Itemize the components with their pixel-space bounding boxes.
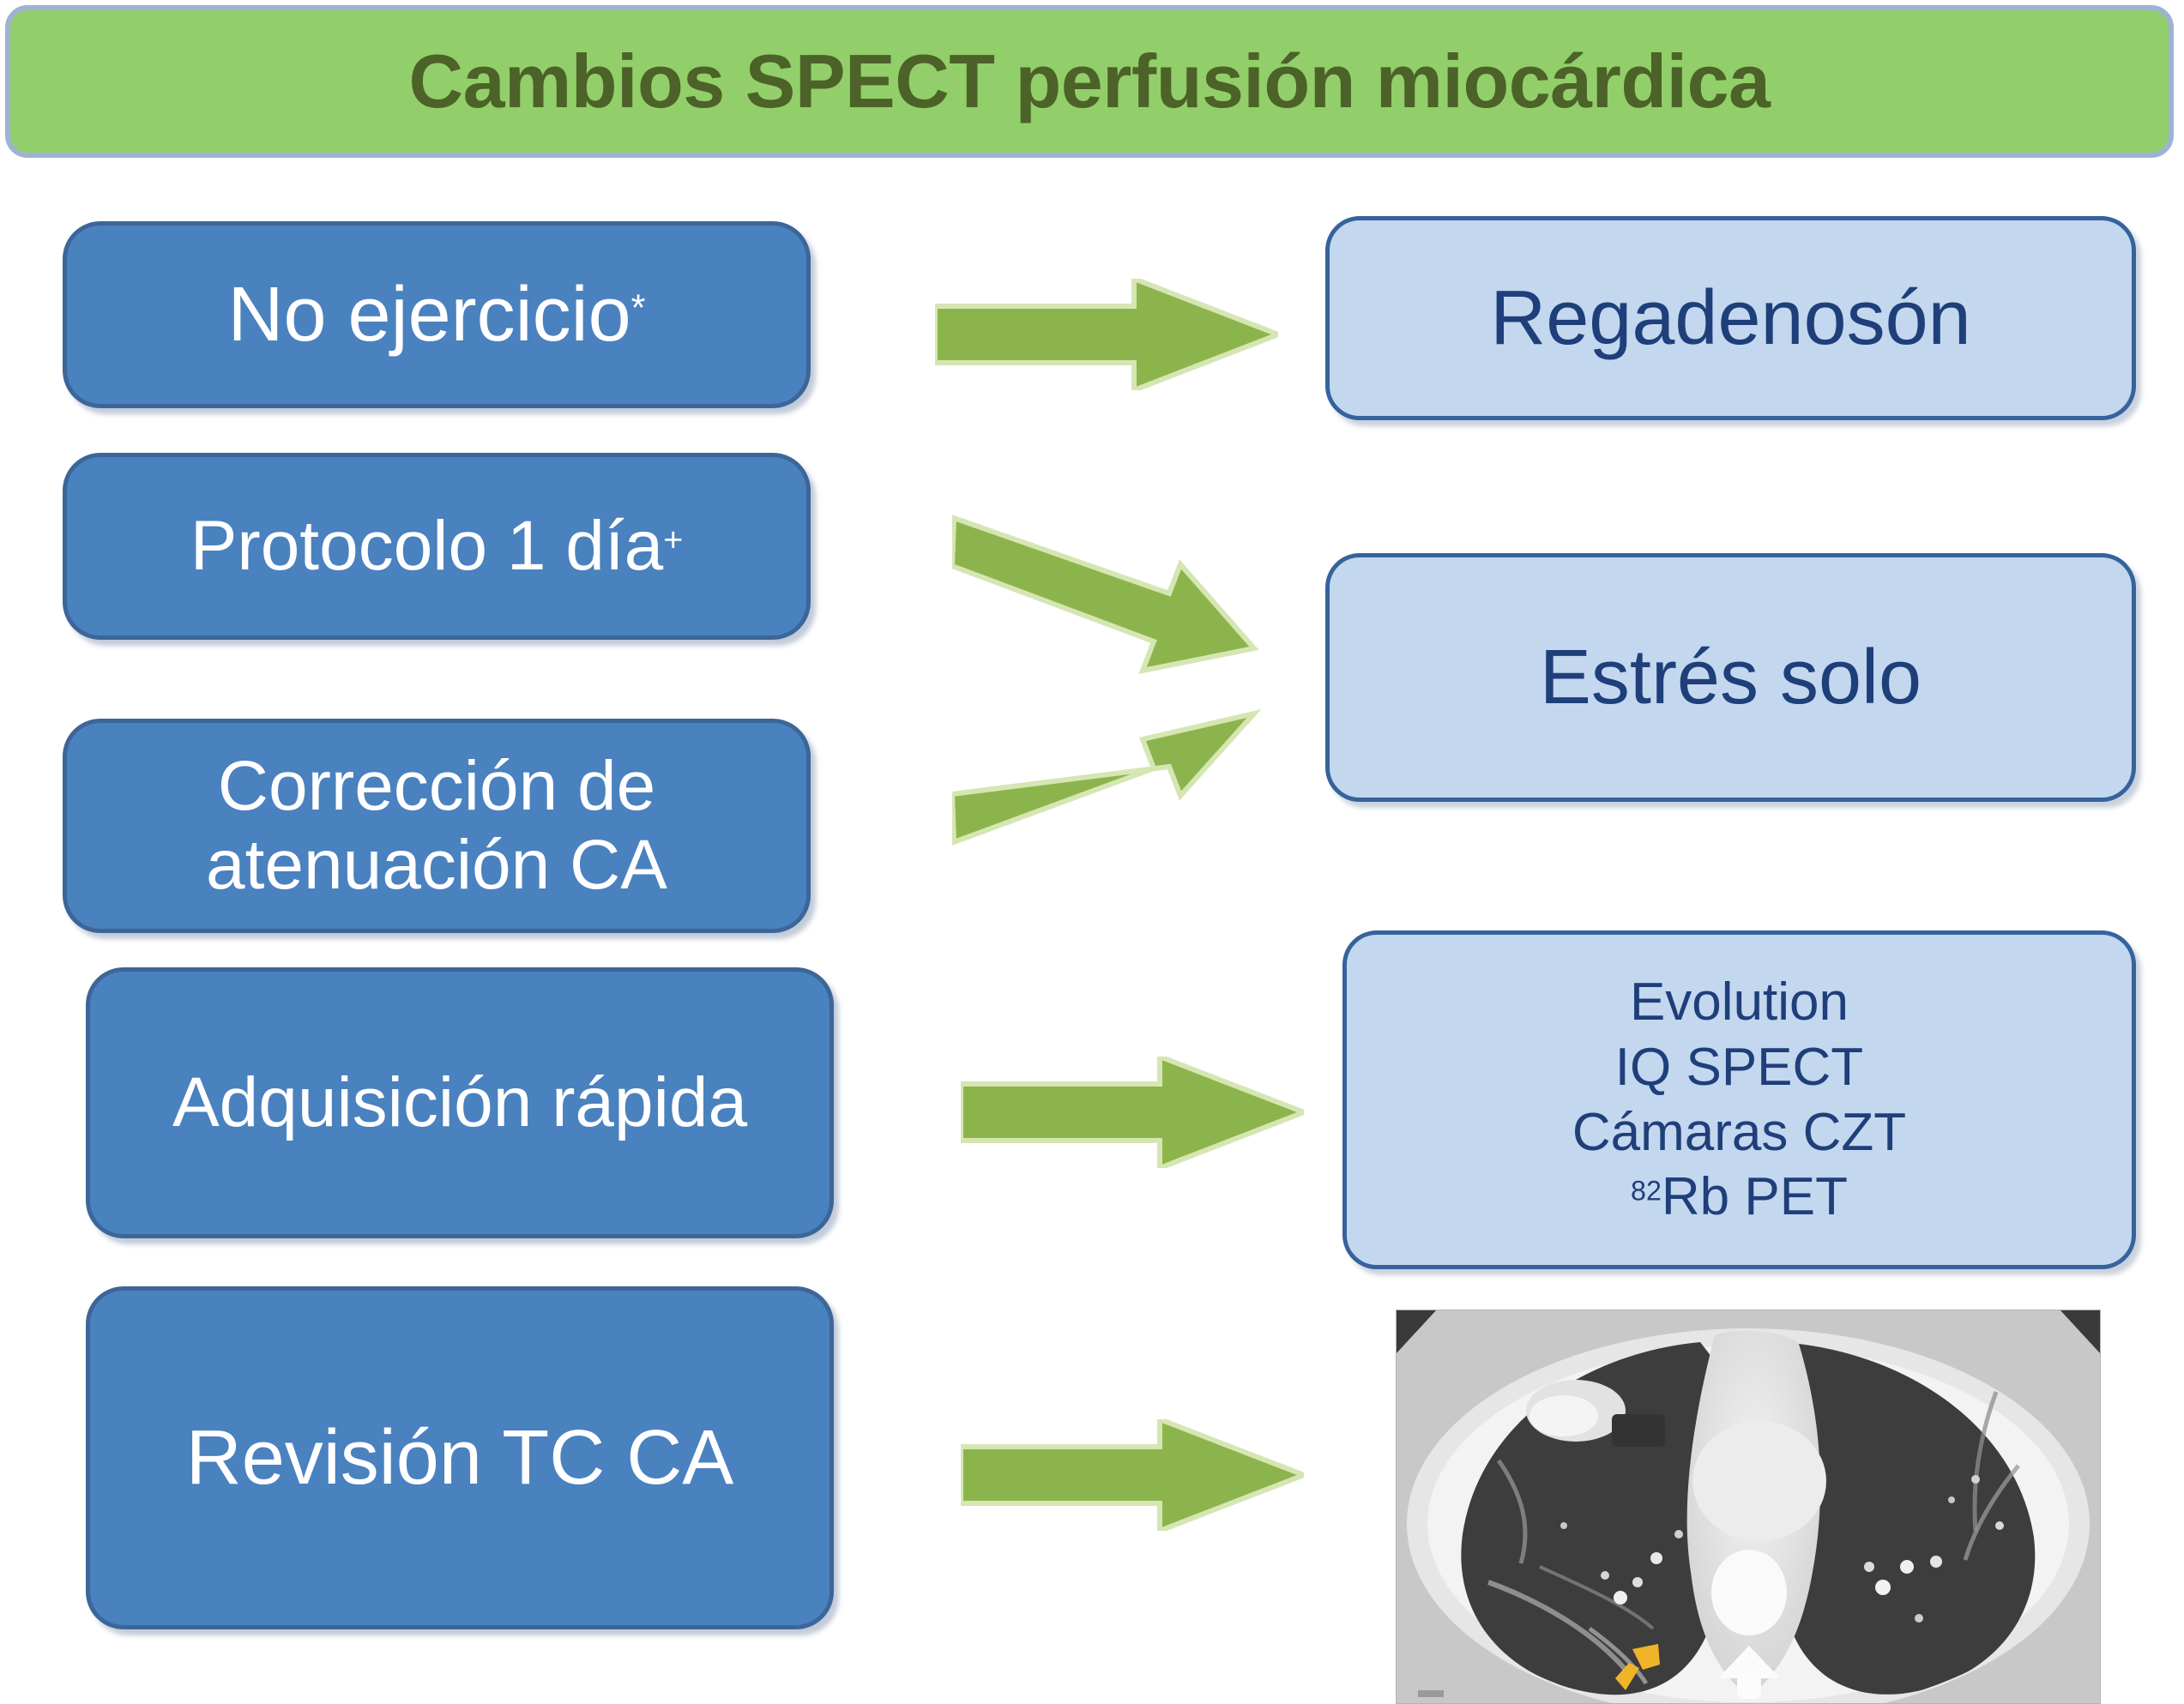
left-box-no-ejercicio-label: No ejercicio* (208, 272, 667, 358)
left-box-protocolo-1-dia[interactable]: Protocolo 1 día+ (63, 453, 811, 640)
right-box-regadenoson[interactable]: Regadenosón (1325, 216, 2136, 420)
left-box-correccion-atenuacion-label: Corrección de atenuación CA (185, 747, 688, 905)
slide-title-banner: Cambios SPECT perfusión miocárdica (5, 5, 2174, 158)
left-box-adquisicion-rapida[interactable]: Adquisición rápida (86, 967, 834, 1238)
left-box-adquisicion-rapida-label: Adquisición rápida (152, 1063, 768, 1142)
asterisk-marker: * (631, 287, 646, 328)
plus-marker: + (663, 521, 683, 558)
ct-chest-image (1396, 1310, 2101, 1704)
right-box-estres-solo[interactable]: Estrés solo (1325, 553, 2136, 802)
left-box-revision-tc-ca[interactable]: Revisión TC CA (86, 1286, 834, 1629)
left-box-protocolo-1-dia-label: Protocolo 1 día+ (170, 507, 704, 586)
arrow-correccion-to-estres (952, 660, 1295, 849)
rb-pet-line: 82Rb PET (1572, 1165, 1906, 1230)
page-title: Cambios SPECT perfusión miocárdica (409, 44, 1771, 119)
arrow-no-ejercicio-to-regadenoson (935, 279, 1278, 390)
right-box-regadenoson-label: Regadenosón (1469, 275, 1991, 362)
right-box-tecnologias-label: Evolution IQ SPECT Cámaras CZT 82Rb PET (1552, 970, 1927, 1230)
arrow-adquisicion-to-tecnologias (961, 1057, 1304, 1168)
left-box-correccion-atenuacion[interactable]: Corrección de atenuación CA (63, 719, 811, 933)
slide-canvas: Cambios SPECT perfusión miocárdica No ej… (0, 0, 2184, 1704)
isotope-mass-number: 82 (1631, 1175, 1662, 1206)
left-box-no-ejercicio[interactable]: No ejercicio* (63, 221, 811, 408)
left-box-revision-tc-ca-label: Revisión TC CA (166, 1415, 755, 1502)
right-box-tecnologias[interactable]: Evolution IQ SPECT Cámaras CZT 82Rb PET (1342, 930, 2136, 1269)
right-box-estres-solo-label: Estrés solo (1519, 635, 1942, 721)
arrow-revision-to-ct-image (961, 1419, 1304, 1531)
